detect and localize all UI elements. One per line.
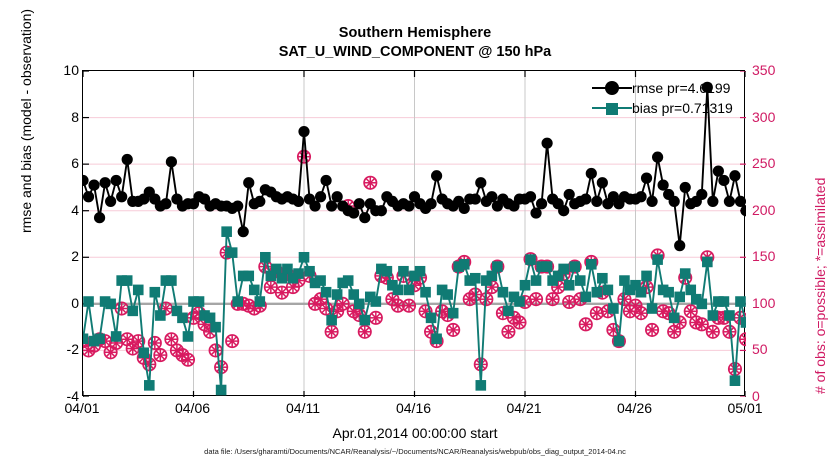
- rmse-point-marker: [669, 196, 680, 207]
- obs-marker: [182, 354, 194, 366]
- bias-point-marker: [697, 299, 708, 310]
- bias-point-marker: [127, 306, 138, 317]
- rmse-point-marker: [459, 203, 470, 214]
- bias-point-marker: [724, 310, 735, 321]
- rmse-point-marker: [94, 212, 105, 223]
- x-axis-label: Apr.01,2014 00:00:00 start: [0, 425, 830, 441]
- legend-swatch-bias: [592, 98, 632, 118]
- obs-marker: [447, 324, 459, 336]
- bias-point-marker: [210, 322, 221, 333]
- bias-point-marker: [442, 289, 453, 300]
- obs-marker: [104, 346, 116, 358]
- bias-point-marker: [719, 296, 730, 307]
- rmse-point-marker: [83, 191, 94, 202]
- bias-point-marker: [150, 287, 161, 298]
- bias-point-marker: [603, 285, 614, 296]
- bias-point-marker: [221, 226, 232, 237]
- rmse-point-marker: [475, 177, 486, 188]
- obs-marker: [226, 335, 238, 347]
- rmse-point-marker: [718, 175, 729, 186]
- x-tick-label: 04/11: [286, 400, 320, 416]
- rmse-point-marker: [658, 180, 669, 191]
- bias-point-marker: [177, 313, 188, 324]
- bias-point-marker: [194, 296, 205, 307]
- y-tick-label-left: 0: [71, 295, 79, 311]
- bias-point-marker: [542, 261, 553, 272]
- obs-marker: [298, 150, 310, 162]
- obs-marker: [668, 326, 680, 338]
- y-tick-label-left: 10: [63, 62, 79, 78]
- rmse-point-marker: [641, 173, 652, 184]
- legend-item-rmse: rmse pr=4.6199: [592, 78, 733, 98]
- obs-marker: [696, 318, 708, 330]
- obs-marker: [740, 333, 746, 345]
- bias-point-marker: [133, 285, 144, 296]
- bias-point-marker: [520, 280, 531, 291]
- bias-point-marker: [122, 275, 133, 286]
- rmse-point-marker: [536, 198, 547, 209]
- rmse-point-marker: [243, 177, 254, 188]
- bias-point-marker: [652, 254, 663, 265]
- legend-label-bias: bias pr=0.71319: [632, 98, 733, 118]
- obs-marker: [502, 326, 514, 338]
- bias-point-marker: [680, 268, 691, 279]
- obs-marker: [209, 344, 221, 356]
- rmse-point-marker: [591, 196, 602, 207]
- x-tick-label: 04/21: [506, 400, 541, 416]
- bias-point-marker: [382, 266, 393, 277]
- data-file-caption: data file: /Users/gharamti/Documents/NCA…: [0, 447, 830, 456]
- obs-marker: [149, 337, 161, 349]
- rmse-point-marker: [674, 240, 685, 251]
- obs-marker: [370, 312, 382, 324]
- figure-canvas: Southern Hemisphere SAT_U_WIND_COMPONENT…: [0, 0, 830, 470]
- bias-point-marker: [492, 261, 503, 272]
- rmse-point-marker: [530, 207, 541, 218]
- bias-point-marker: [564, 280, 575, 291]
- bias-point-marker: [227, 247, 238, 258]
- bias-point-marker: [741, 317, 746, 328]
- obs-marker: [530, 293, 542, 305]
- obs-marker: [154, 349, 166, 361]
- bias-point-marker: [332, 289, 343, 300]
- rmse-point-marker: [597, 177, 608, 188]
- bias-point-marker: [315, 275, 326, 286]
- y-tick-label-left: 2: [71, 248, 79, 264]
- plot-svg: [83, 71, 746, 397]
- legend-label-rmse: rmse pr=4.6199: [632, 78, 730, 98]
- rmse-point-marker: [713, 166, 724, 177]
- bias-point-marker: [580, 292, 591, 303]
- rmse-point-marker: [707, 196, 718, 207]
- bias-point-marker: [514, 296, 525, 307]
- rmse-point-marker: [321, 175, 332, 186]
- rmse-point-marker: [309, 200, 320, 211]
- y-tick-label-left: 4: [71, 202, 79, 218]
- bias-point-marker: [183, 331, 194, 342]
- bias-point-marker: [354, 299, 365, 310]
- bias-point-marker: [260, 252, 271, 263]
- rmse-point-marker: [486, 191, 497, 202]
- y-tick-label-right: 150: [752, 248, 775, 264]
- bias-point-marker: [592, 287, 603, 298]
- bias-point-marker: [271, 264, 282, 275]
- rmse-point-marker: [348, 207, 359, 218]
- bias-point-marker: [216, 385, 227, 396]
- obs-marker: [359, 326, 371, 338]
- rmse-point-marker: [122, 154, 133, 165]
- bias-point-marker: [321, 287, 332, 298]
- bias-point-marker: [586, 259, 597, 270]
- bias-point-marker: [708, 310, 719, 321]
- rmse-point-marker: [160, 198, 171, 209]
- bias-point-marker: [83, 333, 88, 344]
- bias-point-marker: [470, 273, 481, 284]
- rmse-point-marker: [724, 196, 735, 207]
- bias-point-marker: [702, 257, 713, 268]
- bias-point-marker: [558, 264, 569, 275]
- bias-point-marker: [608, 303, 619, 314]
- bias-point-marker: [735, 296, 746, 307]
- plot-area: [82, 70, 745, 396]
- x-tick-label: 05/01: [727, 400, 762, 416]
- bias-point-marker: [685, 285, 696, 296]
- bias-point-marker: [647, 303, 658, 314]
- bias-point-marker: [94, 333, 105, 344]
- bias-point-marker: [293, 268, 304, 279]
- obs-marker: [513, 316, 525, 328]
- y-tick-label-right: 350: [752, 62, 775, 78]
- obs-marker: [325, 326, 337, 338]
- bias-point-marker: [205, 313, 216, 324]
- y-tick-label-right: 100: [752, 295, 775, 311]
- bias-point-marker: [393, 285, 404, 296]
- rmse-point-marker: [680, 182, 691, 193]
- bias-point-marker: [304, 266, 315, 277]
- obs-marker: [580, 318, 592, 330]
- y-axis-right-label: # of obs: o=possible; *=assimilated: [812, 178, 828, 394]
- chart-legend: rmse pr=4.6199 bias pr=0.71319: [592, 78, 733, 118]
- rmse-point-marker: [635, 191, 646, 202]
- title-line-1: Southern Hemisphere: [0, 24, 830, 43]
- rmse-point-marker: [558, 205, 569, 216]
- bias-point-marker: [431, 333, 442, 344]
- bias-point-marker: [243, 271, 254, 282]
- rmse-point-marker: [564, 189, 575, 200]
- bias-point-marker: [426, 313, 437, 324]
- bias-point-marker: [404, 285, 415, 296]
- rmse-point-marker: [646, 196, 657, 207]
- rmse-point-marker: [88, 180, 99, 191]
- y-tick-label-right: 300: [752, 109, 775, 125]
- bias-point-marker: [105, 299, 116, 310]
- bias-point-marker: [138, 347, 149, 358]
- rmse-point-marker: [729, 170, 740, 181]
- bias-point-marker: [669, 313, 680, 324]
- y-tick-label-left: -2: [67, 341, 79, 357]
- rmse-point-marker: [525, 191, 536, 202]
- y-tick-label-left: 8: [71, 109, 79, 125]
- bias-point-marker: [255, 296, 266, 307]
- bias-point-marker: [459, 259, 470, 270]
- bias-point-marker: [420, 287, 431, 298]
- rmse-point-marker: [238, 226, 249, 237]
- rmse-point-marker: [354, 198, 365, 209]
- rmse-point-marker: [105, 196, 116, 207]
- rmse-point-marker: [166, 156, 177, 167]
- bias-point-marker: [166, 275, 177, 286]
- y-tick-label-right: 250: [752, 155, 775, 171]
- bias-point-marker: [448, 308, 459, 319]
- rmse-point-marker: [696, 189, 707, 200]
- bias-point-marker: [371, 296, 382, 307]
- rmse-point-marker: [470, 193, 481, 204]
- bias-point-marker: [498, 287, 509, 298]
- rmse-point-marker: [83, 175, 89, 186]
- rmse-point-marker: [359, 212, 370, 223]
- rmse-point-marker: [403, 200, 414, 211]
- rmse-point-marker: [652, 152, 663, 163]
- rmse-point-marker: [293, 196, 304, 207]
- title-line-2: SAT_U_WIND_COMPONENT @ 150 hPa: [0, 43, 830, 62]
- rmse-point-marker: [580, 193, 591, 204]
- bias-point-marker: [415, 266, 426, 277]
- square-marker-icon: [606, 103, 618, 115]
- rmse-point-marker: [100, 177, 111, 188]
- bias-point-marker: [144, 380, 155, 391]
- obs-marker: [723, 326, 735, 338]
- rmse-point-marker: [254, 196, 265, 207]
- circle-marker-icon: [605, 81, 619, 95]
- bias-point-marker: [614, 336, 625, 347]
- rmse-point-marker: [116, 191, 127, 202]
- rmse-point-marker: [376, 205, 387, 216]
- obs-marker: [115, 302, 127, 314]
- rmse-point-marker: [542, 138, 553, 149]
- bias-point-marker: [636, 287, 647, 298]
- bias-point-marker: [730, 375, 741, 386]
- rmse-point-marker: [586, 168, 597, 179]
- bias-point-marker: [348, 289, 359, 300]
- bias-point-marker: [155, 310, 166, 321]
- bias-point-marker: [277, 273, 288, 284]
- bias-point-marker: [343, 275, 354, 286]
- bias-point-marker: [476, 380, 487, 391]
- obs-marker: [646, 324, 658, 336]
- legend-swatch-rmse: [592, 78, 632, 98]
- rmse-point-marker: [332, 191, 343, 202]
- bias-point-marker: [398, 266, 409, 277]
- rmse-point-marker: [298, 126, 309, 137]
- bias-point-marker: [487, 271, 498, 282]
- obs-marker: [403, 300, 415, 312]
- bias-point-marker: [674, 292, 685, 303]
- bias-point-marker: [299, 252, 310, 263]
- bias-point-marker: [282, 264, 293, 275]
- bias-point-marker: [249, 285, 260, 296]
- rmse-point-marker: [735, 196, 746, 207]
- bias-point-marker: [597, 273, 608, 284]
- x-tick-label: 04/06: [175, 400, 210, 416]
- bias-point-marker: [83, 296, 94, 307]
- y-tick-label-left: 6: [71, 155, 79, 171]
- x-tick-label: 04/01: [64, 400, 99, 416]
- bias-point-marker: [359, 315, 370, 326]
- obs-marker: [546, 293, 558, 305]
- obs-marker: [635, 307, 647, 319]
- obs-marker: [364, 177, 376, 189]
- chart-title: Southern Hemisphere SAT_U_WIND_COMPONENT…: [0, 24, 830, 62]
- rmse-point-marker: [425, 198, 436, 209]
- legend-item-bias: bias pr=0.71319: [592, 98, 733, 118]
- bias-point-marker: [569, 261, 580, 272]
- bias-point-marker: [525, 254, 536, 265]
- bias-point-marker: [663, 287, 674, 298]
- x-tick-label: 04/26: [617, 400, 652, 416]
- x-tick-label: 04/16: [396, 400, 431, 416]
- y-tick-label-right: 200: [752, 202, 775, 218]
- bias-point-marker: [641, 271, 652, 282]
- rmse-point-marker: [326, 200, 337, 211]
- obs-marker: [707, 326, 719, 338]
- rmse-point-marker: [111, 175, 122, 186]
- y-axis-left-label: rmse and bias (model - observation): [18, 9, 34, 233]
- bias-point-marker: [503, 306, 514, 317]
- y-tick-label-right: 50: [752, 341, 768, 357]
- rmse-point-marker: [431, 170, 442, 181]
- bias-point-marker: [531, 275, 542, 286]
- bias-point-marker: [326, 315, 337, 326]
- bias-point-marker: [575, 275, 586, 286]
- bias-point-marker: [111, 331, 122, 342]
- rmse-point-marker: [232, 200, 243, 211]
- bias-point-marker: [232, 296, 243, 307]
- bias-point-marker: [619, 275, 630, 286]
- rmse-point-marker: [315, 191, 326, 202]
